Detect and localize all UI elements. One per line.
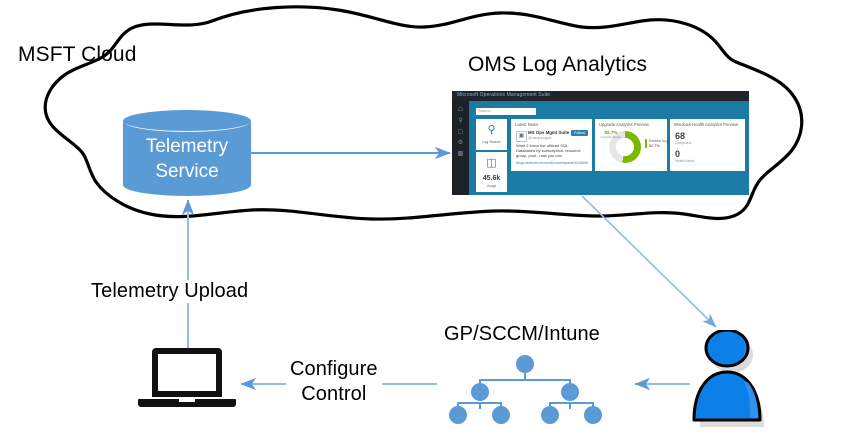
tile-log-search-caption: Log Search <box>476 140 507 144</box>
configure-line: Configure <box>290 357 378 382</box>
org-node-root[interactable] <box>516 355 534 373</box>
health-stat-alerts-value: 0 <box>675 149 694 159</box>
configure-control-label: Configure Control <box>286 357 382 407</box>
avatar: ▣ <box>516 131 527 142</box>
control-line: Control <box>290 382 378 407</box>
admin-person-icon[interactable] <box>688 330 774 430</box>
oms-search-placeholder: Search <box>478 108 491 113</box>
news-account-handle: @msopsmgmt <box>528 136 551 140</box>
msft-cloud-label: MSFT Cloud <box>18 43 136 67</box>
org-node-leaf-3[interactable] <box>541 406 559 424</box>
tile-upgrade-analytics-title: Upgrade Analytics Preview <box>599 122 649 127</box>
telemetry-service-cylinder[interactable]: Telemetry Service <box>123 110 251 196</box>
oms-left-rail[interactable]: ☖ ⚲ ▢ ⚙ ▩ <box>452 101 469 195</box>
chart-icon[interactable]: ▩ <box>457 151 464 158</box>
donut-label: Upgrade Ready <box>595 135 627 139</box>
oms-search-input[interactable]: Search <box>476 108 536 115</box>
org-connector-mid-left-drop <box>479 403 481 409</box>
org-connector-level2-left-horz <box>457 402 501 404</box>
legend-swatch <box>645 139 647 148</box>
person-head <box>706 330 748 366</box>
follow-button[interactable]: Follow <box>571 130 588 136</box>
oms-titlebar-text: Microsoft Operations Management Suite <box>457 92 550 98</box>
org-node-leaf-4[interactable] <box>584 406 602 424</box>
laptop-screen <box>152 348 222 397</box>
arrow-oms-to-person <box>582 196 716 327</box>
settings-icon[interactable]: ⚙ <box>457 140 464 147</box>
laptop-icon[interactable] <box>138 348 236 416</box>
tile-usage-caption: Usage <box>476 184 507 188</box>
news-account-name: MS Ops Mgmt Suite <box>528 130 569 135</box>
dashboard-icon[interactable]: ▢ <box>457 129 464 136</box>
org-connector-mid-right-drop <box>569 403 571 409</box>
org-node-mid-2[interactable] <box>561 383 579 401</box>
telemetry-line2: Service <box>123 159 251 184</box>
magnifier-icon: ⚲ <box>476 125 507 136</box>
oms-log-analytics-label: OMS Log Analytics <box>468 53 647 77</box>
gp-sccm-intune-label: GP/SCCM/Intune <box>444 323 600 346</box>
legend-value: 52.7% <box>649 144 660 148</box>
tile-latest-news-title: Latest News <box>515 122 538 127</box>
home-icon[interactable]: ☖ <box>457 107 464 114</box>
org-node-leaf-2[interactable] <box>492 406 510 424</box>
telemetry-upload-label: Telemetry Upload <box>88 280 251 303</box>
search-icon[interactable]: ⚲ <box>457 118 464 125</box>
diagram-canvas: MSFT Cloud OMS Log Analytics Telemetry U… <box>0 0 841 439</box>
tile-latest-news[interactable]: Latest News · ··· ▣ MS Ops Mgmt Suite @m… <box>511 119 592 171</box>
health-stat-alerts-caption: Health Alerts <box>675 159 694 163</box>
org-connector-level1-horz <box>479 379 571 381</box>
laptop-trackpad-notch <box>179 399 195 402</box>
news-link[interactable]: blogs.technet.microsoft.com/msoms/2016/0… <box>516 161 588 165</box>
health-stat-computers: 68 Computers <box>675 131 692 145</box>
org-chart-hierarchy[interactable] <box>455 355 595 417</box>
dashboard-icon: ◫ <box>476 158 507 169</box>
cylinder-top <box>123 110 251 132</box>
oms-titlebar: Microsoft Operations Management Suite <box>452 91 749 101</box>
tile-log-search[interactable]: ⚲ Log Search <box>476 119 507 150</box>
health-stat-computers-caption: Computers <box>675 141 692 145</box>
org-node-mid-1[interactable] <box>471 383 489 401</box>
health-stat-computers-value: 68 <box>675 131 692 141</box>
tile-windows-health-title: Windows Health Analytics Preview <box>674 122 738 127</box>
tile-upgrade-analytics[interactable]: Upgrade Analytics Preview 52.7% Upgrade … <box>595 119 667 171</box>
org-node-leaf-1[interactable] <box>449 406 467 424</box>
overflow-dots-icon[interactable]: · ··· <box>579 122 588 127</box>
tile-usage-value: 45.6k <box>476 175 507 182</box>
news-body-text: Want 2 know the utilized SQL Databases b… <box>516 143 588 159</box>
org-connector-level2-right-horz <box>549 402 593 404</box>
oms-dashboard-screenshot[interactable]: Microsoft Operations Management Suite ☖ … <box>452 91 749 195</box>
telemetry-service-text: Telemetry Service <box>123 134 251 184</box>
tile-windows-health[interactable]: Windows Health Analytics Preview 68 Comp… <box>670 119 745 171</box>
telemetry-line1: Telemetry <box>123 134 251 159</box>
health-stat-alerts: 0 Health Alerts <box>675 149 694 163</box>
tile-usage[interactable]: 45.6k Usage <box>476 170 507 192</box>
donut-center-labels: 52.7% Upgrade Ready <box>595 130 627 139</box>
